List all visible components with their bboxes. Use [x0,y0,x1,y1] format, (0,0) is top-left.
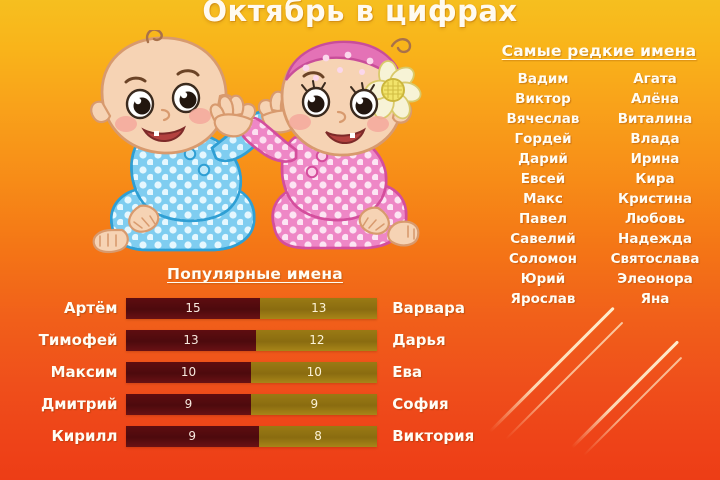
rare-name-item: Юрий [487,270,599,289]
rare-name-item: Яна [599,290,711,309]
rare-names-heading: Самые редкие имена [480,42,718,60]
rare-name-item: Влада [599,130,711,149]
chart-row-female-label: Ева [377,363,500,381]
rare-name-item: Ирина [599,150,711,169]
popular-names-chart: Артём1513ВарвараТимофей1312ДарьяМаксим10… [0,296,500,448]
rare-name-item: Кира [599,170,711,189]
rare-names-female-column: Агата Алёна Виталина Влада Ирина Кира Кр… [599,70,711,309]
rare-name-item: Евсей [487,170,599,189]
rare-name-item: Макс [487,190,599,209]
chart-row: Дмитрий99София [0,392,500,416]
chart-bar-track: 98 [126,426,378,447]
chart-bar-track: 1312 [126,330,378,351]
chart-row-male-label: Артём [0,299,126,317]
rare-names-columns: Вадим Виктор Вячеслав Гордей Дарий Евсей… [480,70,718,309]
rare-names-male-column: Вадим Виктор Вячеслав Гордей Дарий Евсей… [487,70,599,309]
rare-name-item: Вадим [487,70,599,89]
streak-line [583,357,682,456]
rare-name-item: Кристина [599,190,711,209]
streak-line [505,322,623,440]
corner-streak-decoration [480,280,720,480]
streak-line [489,307,615,433]
rare-name-item: Надежда [599,230,711,249]
chart-row-female-label: Варвара [377,299,500,317]
rare-name-item: Святослава [599,250,711,269]
chart-row-female-label: Дарья [377,331,500,349]
chart-row: Кирилл98Виктория [0,424,500,448]
chart-row-female-label: Виктория [377,427,500,445]
chart-bar-female-segment: 10 [251,362,377,383]
rare-name-item: Вячеслав [487,110,599,129]
chart-bar-male-segment: 9 [126,394,252,415]
infographic-poster: Октябрь в цифрах [0,0,720,480]
chart-bar-male-segment: 9 [126,426,259,447]
chart-bar-track: 99 [126,394,378,415]
popular-names-heading-wrap: Популярные имена [10,264,500,283]
rare-name-item: Элеонора [599,270,711,289]
rare-names-section: Самые редкие имена Вадим Виктор Вячеслав… [480,42,718,309]
rare-name-item: Агата [599,70,711,89]
rare-name-item: Алёна [599,90,711,109]
chart-bar-female-segment: 9 [251,394,377,415]
chart-bar-female-segment: 13 [260,298,377,319]
rare-name-item: Соломон [487,250,599,269]
rare-name-item: Виктор [487,90,599,109]
chart-row: Тимофей1312Дарья [0,328,500,352]
rare-name-item: Гордей [487,130,599,149]
rare-name-item: Виталина [599,110,711,129]
popular-names-heading: Популярные имена [167,265,343,283]
chart-row-male-label: Максим [0,363,126,381]
chart-bar-track: 1010 [126,362,378,383]
chart-bar-male-segment: 13 [126,330,257,351]
chart-bar-male-segment: 15 [126,298,261,319]
page-title: Октябрь в цифрах [0,0,720,28]
rare-name-item: Савелий [487,230,599,249]
babies-illustration [78,30,428,265]
chart-row-male-label: Дмитрий [0,395,126,413]
chart-bar-male-segment: 10 [126,362,252,383]
rare-name-item: Павел [487,210,599,229]
chart-row: Артём1513Варвара [0,296,500,320]
chart-bar-female-segment: 8 [259,426,377,447]
chart-row-male-label: Тимофей [0,331,126,349]
chart-row: Максим1010Ева [0,360,500,384]
streak-line [571,340,679,448]
rare-name-item: Любовь [599,210,711,229]
chart-row-female-label: София [377,395,500,413]
chart-bar-female-segment: 12 [256,330,377,351]
rare-name-item: Дарий [487,150,599,169]
chart-bar-track: 1513 [126,298,378,319]
popular-names-section: Популярные имена Артём1513ВарвараТимофей… [0,264,500,448]
rare-name-item: Ярослав [487,290,599,309]
chart-row-male-label: Кирилл [0,427,126,445]
